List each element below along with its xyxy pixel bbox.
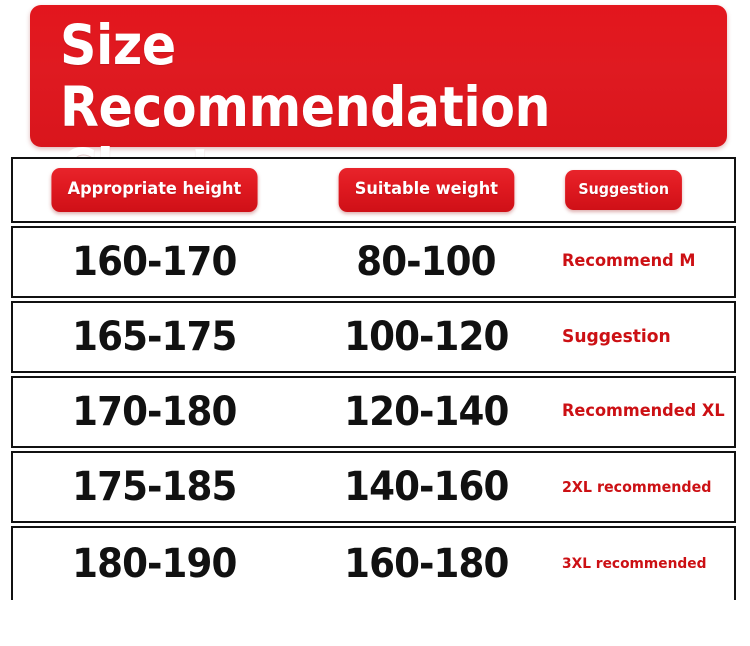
value-suggestion: Recommend M (562, 251, 695, 272)
cell-weight: 140-160 (296, 453, 556, 521)
cell-weight: 120-140 (296, 378, 556, 446)
cell-suggestion: 3XL recommended (556, 528, 734, 600)
value-height: 170-180 (72, 392, 236, 432)
cell-weight: 100-120 (296, 303, 556, 371)
value-weight: 140-160 (344, 467, 508, 507)
cell-weight: 80-100 (296, 228, 556, 296)
table-row: 165-175 100-120 Suggestion (11, 301, 736, 373)
header-cell-suggestion: Suggestion (556, 159, 734, 221)
value-height: 175-185 (72, 467, 236, 507)
cell-suggestion: Recommend M (556, 228, 734, 296)
value-suggestion: 2XL recommended (562, 478, 711, 497)
table-row: 180-190 160-180 3XL recommended (11, 526, 736, 600)
cell-height: 160-170 (13, 228, 296, 296)
cell-suggestion: Recommended XL (556, 378, 734, 446)
cell-height: 170-180 (13, 378, 296, 446)
value-weight: 160-180 (344, 544, 508, 584)
value-height: 180-190 (72, 544, 236, 584)
header-pill-appropriate-height: Appropriate height (51, 168, 257, 212)
value-weight: 120-140 (344, 392, 508, 432)
title-banner: Size Recommendation Chart (30, 5, 727, 147)
table-row: 160-170 80-100 Recommend M (11, 226, 736, 298)
value-height: 160-170 (72, 242, 236, 282)
cell-height: 180-190 (13, 528, 296, 600)
value-height: 165-175 (72, 317, 236, 357)
size-recommendation-chart: Size Recommendation Chart Appropriate he… (0, 0, 750, 646)
cell-suggestion: 2XL recommended (556, 453, 734, 521)
value-weight: 80-100 (356, 242, 495, 282)
value-suggestion: Suggestion (562, 326, 671, 349)
header-pill-suitable-weight: Suitable weight (338, 168, 513, 212)
header-cell-weight: Suitable weight (296, 159, 556, 221)
cell-suggestion: Suggestion (556, 303, 734, 371)
table-header-row: Appropriate height Suitable weight Sugge… (11, 157, 736, 223)
value-suggestion: 3XL recommended (562, 555, 706, 573)
cell-height: 165-175 (13, 303, 296, 371)
size-table: Appropriate height Suitable weight Sugge… (11, 157, 736, 603)
cell-height: 175-185 (13, 453, 296, 521)
header-cell-height: Appropriate height (13, 159, 296, 221)
table-row: 170-180 120-140 Recommended XL (11, 376, 736, 448)
header-pill-suggestion: Suggestion (565, 170, 682, 210)
value-weight: 100-120 (344, 317, 508, 357)
cell-weight: 160-180 (296, 528, 556, 600)
table-row: 175-185 140-160 2XL recommended (11, 451, 736, 523)
value-suggestion: Recommended XL (562, 401, 725, 422)
